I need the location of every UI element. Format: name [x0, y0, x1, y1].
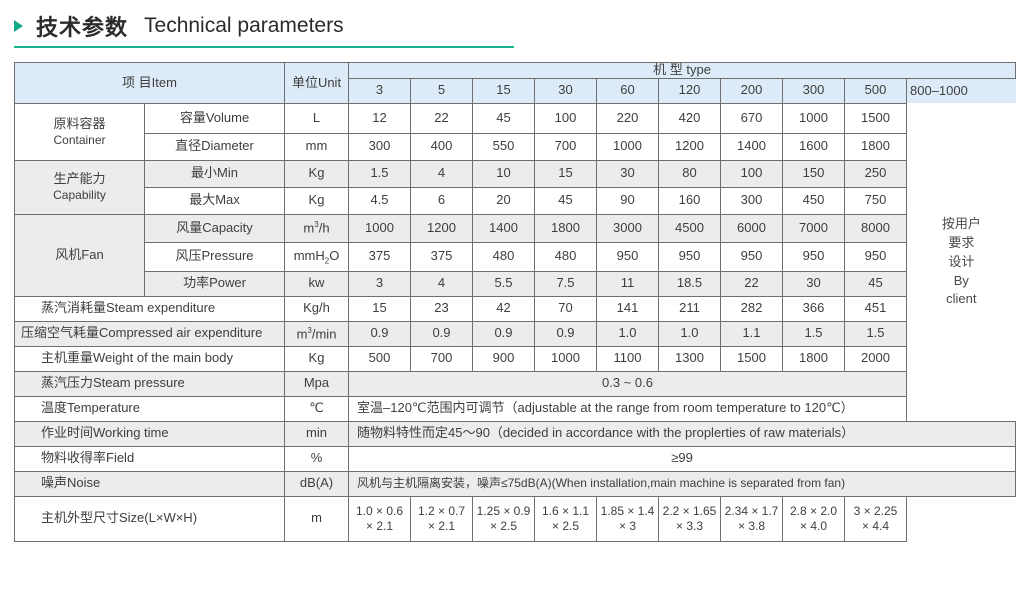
cell: 45 [535, 187, 597, 214]
row-label-pressure: 风压Pressure [145, 242, 285, 271]
row-unit-power: kw [285, 271, 349, 296]
cell: 70 [535, 296, 597, 321]
model-col-5: 5 [411, 78, 473, 103]
table-row-capacity: 风机Fan 风量Capacity m3/h 1000 1200 1400 180… [15, 214, 1016, 242]
by-client-line-1: 按用户 [942, 216, 981, 231]
technical-parameters-table: 项 目Item 单位Unit 机 型 type 3 5 15 30 60 120… [14, 62, 1016, 542]
cell: 150 [783, 160, 845, 187]
cell: 7.5 [535, 271, 597, 296]
row-unit-compressed-air: m3/min [285, 321, 349, 346]
row-label-diameter: 直径Diameter [145, 133, 285, 160]
cell: 1.5 [349, 160, 411, 187]
cell: 80 [659, 160, 721, 187]
group-container-cn: 原料容器 [53, 116, 105, 131]
cell: 950 [783, 242, 845, 271]
cell-size: 1.25 × 0.9 × 2.5 [473, 496, 535, 541]
model-col-200: 200 [721, 78, 783, 103]
row-unit-min: Kg [285, 160, 349, 187]
cell: 220 [597, 103, 659, 133]
table-row-size: 主机外型尺寸Size(L×W×H) m 1.0 × 0.6 × 2.1 1.2 … [15, 496, 1016, 541]
cell: 4.5 [349, 187, 411, 214]
row-unit-temperature: ℃ [285, 396, 349, 421]
technical-parameters-table-wrap: 项 目Item 单位Unit 机 型 type 3 5 15 30 60 120… [14, 62, 1015, 589]
cell: 1800 [783, 346, 845, 371]
cell: 30 [597, 160, 659, 187]
table-row-steam-expenditure: 蒸汽消耗量Steam expenditure Kg/h 15 23 42 70 … [15, 296, 1016, 321]
cell: 6 [411, 187, 473, 214]
row-label-volume: 容量Volume [145, 103, 285, 133]
cell-size: 3 × 2.25 × 4.4 [845, 496, 907, 541]
cell: 30 [783, 271, 845, 296]
cell: 1400 [473, 214, 535, 242]
group-container-en: Container [53, 133, 105, 147]
cell: 366 [783, 296, 845, 321]
table-row-diameter: 直径Diameter mm 300 400 550 700 1000 1200 … [15, 133, 1016, 160]
row-label-weight: 主机重量Weight of the main body [15, 346, 285, 371]
table-row-field: 物料收得率Field % ≥99 [15, 446, 1016, 471]
row-unit-steam-expenditure: Kg/h [285, 296, 349, 321]
size-a: 1.2 × 0.7 [418, 504, 465, 518]
cell: 700 [411, 346, 473, 371]
row-value-working-time: 随物料特性而定45～90（decided in accordance with … [349, 421, 1016, 446]
row-label-size: 主机外型尺寸Size(L×W×H) [15, 496, 285, 541]
table-row-working-time: 作业时间Working time min 随物料特性而定45～90（decide… [15, 421, 1016, 446]
row-label-max: 最大Max [145, 187, 285, 214]
size-a: 2.2 × 1.65 [663, 504, 717, 518]
group-capability: 生产能力 Capability [15, 160, 145, 214]
cell-size: 2.34 × 1.7 × 3.8 [721, 496, 783, 541]
size-b: × 2.1 [366, 519, 393, 533]
size-b: × 2.1 [428, 519, 455, 533]
cell: 1800 [845, 133, 907, 160]
by-client-line-5: client [946, 291, 976, 306]
cell: 45 [473, 103, 535, 133]
cell: 1000 [349, 214, 411, 242]
model-col-3: 3 [349, 78, 411, 103]
cell: 160 [659, 187, 721, 214]
header-item: 项 目Item [15, 63, 285, 104]
cell: 0.9 [473, 321, 535, 346]
cell-size: 1.0 × 0.6 × 2.1 [349, 496, 411, 541]
cell: 1600 [783, 133, 845, 160]
row-value-field: ≥99 [349, 446, 1016, 471]
cell: 4 [411, 160, 473, 187]
cell: 450 [783, 187, 845, 214]
cell: 500 [349, 346, 411, 371]
cell: 1000 [535, 346, 597, 371]
cell: 0.9 [349, 321, 411, 346]
cell: 8000 [845, 214, 907, 242]
cell: 1000 [783, 103, 845, 133]
cell: 45 [845, 271, 907, 296]
cell: 4 [411, 271, 473, 296]
cell: 3000 [597, 214, 659, 242]
row-unit-field: % [285, 446, 349, 471]
row-label-power: 功率Power [145, 271, 285, 296]
cell: 1500 [721, 346, 783, 371]
cell: 42 [473, 296, 535, 321]
row-unit-diameter: mm [285, 133, 349, 160]
cell: 900 [473, 346, 535, 371]
header-type-group: 机 型 type [349, 63, 1016, 79]
cell: 23 [411, 296, 473, 321]
row-unit-working-time: min [285, 421, 349, 446]
cell: 400 [411, 133, 473, 160]
by-client-line-2: 要求 [948, 235, 974, 250]
size-b: × 4.4 [862, 519, 889, 533]
row-value-noise: 风机与主机隔离安装，噪声≤75dB(A)(When installation,m… [349, 471, 1016, 496]
cell: 451 [845, 296, 907, 321]
row-unit-noise: dB(A) [285, 471, 349, 496]
cell: 550 [473, 133, 535, 160]
table-row-steam-pressure: 蒸汽压力Steam pressure Mpa 0.3 ~ 0.6 [15, 371, 1016, 396]
row-label-temperature: 温度Temperature [15, 396, 285, 421]
cell: 300 [349, 133, 411, 160]
cell: 1.0 [597, 321, 659, 346]
cell: 0.9 [411, 321, 473, 346]
cell: 480 [535, 242, 597, 271]
size-a: 1.25 × 0.9 [477, 504, 531, 518]
size-b: × 3.3 [676, 519, 703, 533]
cell: 11 [597, 271, 659, 296]
row-label-noise: 噪声Noise [15, 471, 285, 496]
cell: 7000 [783, 214, 845, 242]
group-capability-cn: 生产能力 [53, 171, 105, 186]
cell: 18.5 [659, 271, 721, 296]
cell: 480 [473, 242, 535, 271]
cell: 90 [597, 187, 659, 214]
cell: 670 [721, 103, 783, 133]
cell: 950 [721, 242, 783, 271]
row-value-temperature: 室温–120℃范围内可调节（adjustable at the range fr… [349, 396, 907, 421]
table-row-max: 最大Max Kg 4.5 6 20 45 90 160 300 450 750 [15, 187, 1016, 214]
size-b: × 4.0 [800, 519, 827, 533]
by-client-line-4: By [954, 273, 969, 288]
cell: 12 [349, 103, 411, 133]
row-label-steam-expenditure: 蒸汽消耗量Steam expenditure [15, 296, 285, 321]
cell: 1800 [535, 214, 597, 242]
model-col-500: 500 [845, 78, 907, 103]
row-unit-size: m [285, 496, 349, 541]
row-value-steam-pressure: 0.3 ~ 0.6 [349, 371, 907, 396]
cell: 15 [349, 296, 411, 321]
cell: 22 [411, 103, 473, 133]
cell: 10 [473, 160, 535, 187]
cell: 750 [845, 187, 907, 214]
cell-size-empty [907, 496, 1016, 541]
row-unit-volume: L [285, 103, 349, 133]
cell: 950 [845, 242, 907, 271]
model-col-120: 120 [659, 78, 721, 103]
cell: 15 [535, 160, 597, 187]
header-unit: 单位Unit [285, 63, 349, 104]
size-a: 1.85 × 1.4 [601, 504, 655, 518]
table-row-volume: 原料容器 Container 容量Volume L 12 22 45 100 2… [15, 103, 1016, 133]
size-b: × 2.5 [490, 519, 517, 533]
cell: 5.5 [473, 271, 535, 296]
group-container: 原料容器 Container [15, 103, 145, 160]
size-a: 1.0 × 0.6 [356, 504, 403, 518]
row-label-compressed-air: 压缩空气耗量Compressed air expenditure [15, 321, 285, 346]
cell: 300 [721, 187, 783, 214]
model-col-60: 60 [597, 78, 659, 103]
page-title-bar: 技术参数 Technical parameters [14, 6, 514, 48]
cell: 282 [721, 296, 783, 321]
cell: 2000 [845, 346, 907, 371]
cell: 211 [659, 296, 721, 321]
model-col-800-1000: 800–1000 [907, 78, 1016, 103]
size-b: × 3.8 [738, 519, 765, 533]
page-title-cn: 技术参数 [36, 10, 128, 42]
cell: 700 [535, 133, 597, 160]
cell: 250 [845, 160, 907, 187]
cell: 1500 [845, 103, 907, 133]
size-b: × 3 [619, 519, 636, 533]
cell: 22 [721, 271, 783, 296]
row-unit-steam-pressure: Mpa [285, 371, 349, 396]
cell: 1200 [411, 214, 473, 242]
size-a: 3 × 2.25 [854, 504, 898, 518]
cell: 141 [597, 296, 659, 321]
cell-size: 1.6 × 1.1 × 2.5 [535, 496, 597, 541]
cell: 950 [659, 242, 721, 271]
cell: 100 [721, 160, 783, 187]
row-label-min: 最小Min [145, 160, 285, 187]
cell: 3 [349, 271, 411, 296]
model-col-30: 30 [535, 78, 597, 103]
table-row-power: 功率Power kw 3 4 5.5 7.5 11 18.5 22 30 45 [15, 271, 1016, 296]
cell: 1200 [659, 133, 721, 160]
cell: 375 [411, 242, 473, 271]
cell: 1.1 [721, 321, 783, 346]
table-row-compressed-air: 压缩空气耗量Compressed air expenditure m3/min … [15, 321, 1016, 346]
cell: 6000 [721, 214, 783, 242]
size-a: 2.8 × 2.0 [790, 504, 837, 518]
size-b: × 2.5 [552, 519, 579, 533]
play-triangle-icon [14, 20, 23, 32]
table-row-noise: 噪声Noise dB(A) 风机与主机隔离安装，噪声≤75dB(A)(When … [15, 471, 1016, 496]
cell: 420 [659, 103, 721, 133]
group-capability-en: Capability [53, 188, 106, 202]
cell: 1100 [597, 346, 659, 371]
by-client-line-3: 设计 [948, 254, 974, 269]
row-unit-capacity: m3/h [285, 214, 349, 242]
by-client-note: 按用户 要求 设计 By client [907, 103, 1016, 421]
size-a: 1.6 × 1.1 [542, 504, 589, 518]
cell: 20 [473, 187, 535, 214]
row-unit-max: Kg [285, 187, 349, 214]
table-row-weight: 主机重量Weight of the main body Kg 500 700 9… [15, 346, 1016, 371]
cell: 4500 [659, 214, 721, 242]
size-a: 2.34 × 1.7 [725, 504, 779, 518]
page-title-en: Technical parameters [144, 14, 344, 38]
cell-size: 1.2 × 0.7 × 2.1 [411, 496, 473, 541]
cell: 1300 [659, 346, 721, 371]
row-label-capacity: 风量Capacity [145, 214, 285, 242]
row-label-steam-pressure: 蒸汽压力Steam pressure [15, 371, 285, 396]
cell-size: 2.2 × 1.65 × 3.3 [659, 496, 721, 541]
cell: 1.0 [659, 321, 721, 346]
table-row-pressure: 风压Pressure mmH2O 375 375 480 480 950 950… [15, 242, 1016, 271]
group-fan-cn: 风机Fan [55, 247, 103, 262]
cell: 375 [349, 242, 411, 271]
cell: 100 [535, 103, 597, 133]
cell: 0.9 [535, 321, 597, 346]
table-row-temperature: 温度Temperature ℃ 室温–120℃范围内可调节（adjustable… [15, 396, 1016, 421]
cell: 1.5 [845, 321, 907, 346]
row-label-field: 物料收得率Field [15, 446, 285, 471]
cell: 1.5 [783, 321, 845, 346]
model-col-300: 300 [783, 78, 845, 103]
cell: 950 [597, 242, 659, 271]
model-col-15: 15 [473, 78, 535, 103]
row-unit-weight: Kg [285, 346, 349, 371]
group-fan: 风机Fan [15, 214, 145, 296]
cell-size: 2.8 × 2.0 × 4.0 [783, 496, 845, 541]
row-unit-pressure: mmH2O [285, 242, 349, 271]
cell: 1400 [721, 133, 783, 160]
row-label-working-time: 作业时间Working time [15, 421, 285, 446]
cell-size: 1.85 × 1.4 × 3 [597, 496, 659, 541]
table-header-row-1: 项 目Item 单位Unit 机 型 type [15, 63, 1016, 79]
table-row-min: 生产能力 Capability 最小Min Kg 1.5 4 10 15 30 … [15, 160, 1016, 187]
cell: 1000 [597, 133, 659, 160]
